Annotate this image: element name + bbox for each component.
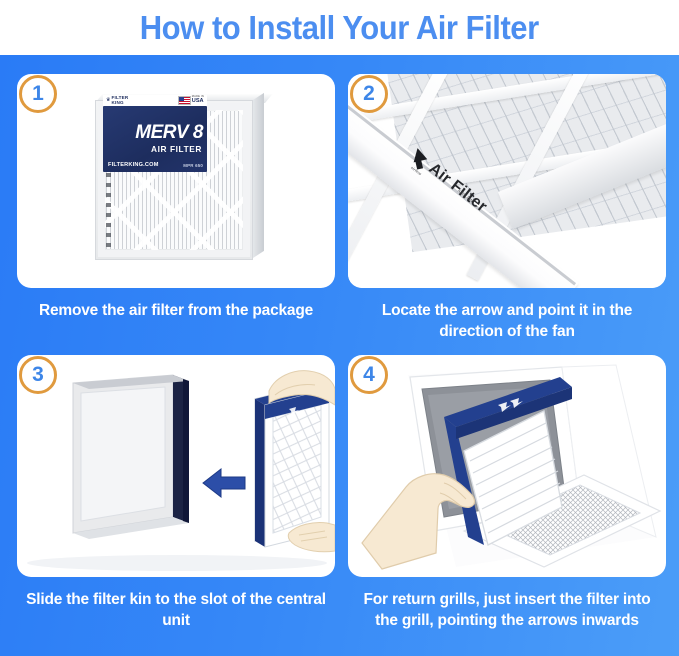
made-in-usa-badge: MADE IN USA xyxy=(178,96,204,105)
country-label: USA xyxy=(192,99,204,105)
step-number-badge-3: 3 xyxy=(19,356,57,394)
brand-line-2: KING xyxy=(111,100,123,105)
made-in-usa-text: MADE IN USA xyxy=(192,96,204,104)
step-2-caption: Locate the arrow and point it in the dir… xyxy=(348,301,666,342)
step-card-4: 4 For return grills, just insert the fil… xyxy=(348,355,666,631)
step-number-badge-4: 4 xyxy=(350,356,388,394)
product-type-label: AIR FILTER xyxy=(103,144,202,154)
mpr-rating-label: MPR 650 xyxy=(183,163,203,168)
step-1-image-card: ♛ FILTER KING MADE IN xyxy=(17,74,335,288)
step-card-3: 3 Slide the filter kin to the slot of th… xyxy=(17,355,335,631)
air-filter-product-photo: ♛ FILTER KING MADE IN xyxy=(89,94,265,266)
step-4-image-card: 4 xyxy=(348,355,666,577)
merv-rating: MERV 8 xyxy=(103,122,203,144)
step-card-1: ♛ FILTER KING MADE IN xyxy=(17,74,335,322)
usa-flag-icon xyxy=(178,96,191,105)
step-2-image-card: airflow Air Filter AIRFLOW 2 xyxy=(348,74,666,288)
step-3-caption: Slide the filter kin to the slot of the … xyxy=(17,590,335,631)
return-grill-insert-illustration xyxy=(348,355,666,577)
air-filter-corner-photo: airflow Air Filter AIRFLOW xyxy=(348,74,666,288)
brand-row: ♛ FILTER KING MADE IN xyxy=(103,95,207,106)
step-4-caption: For return grills, just insert the filte… xyxy=(348,590,666,631)
crown-icon: ♛ xyxy=(106,98,110,103)
title-bar: How to Install Your Air Filter xyxy=(0,0,679,55)
infographic-root: How to Install Your Air Filter xyxy=(0,0,679,656)
website-label: FILTERKING.COM xyxy=(108,162,159,168)
step-card-2: airflow Air Filter AIRFLOW 2 Locate the … xyxy=(348,74,666,342)
steps-grid: ♛ FILTER KING MADE IN xyxy=(0,55,679,656)
label-footer: FILTERKING.COM MPR 650 xyxy=(108,162,203,168)
page-title: How to Install Your Air Filter xyxy=(140,9,539,47)
step-1-caption: Remove the air filter from the package xyxy=(17,301,335,322)
step-3-image-card: 3 xyxy=(17,355,335,577)
steps-background: ♛ FILTER KING MADE IN xyxy=(0,55,679,656)
step-number-badge-1: 1 xyxy=(19,75,57,113)
filter-side-edge xyxy=(253,93,264,258)
slide-direction-arrow-icon xyxy=(203,469,245,497)
brand-name: FILTER KING xyxy=(111,96,128,105)
filter-product-label: ♛ FILTER KING MADE IN xyxy=(103,106,207,172)
slide-into-slot-illustration xyxy=(17,355,335,577)
brand-lockup: ♛ FILTER KING xyxy=(106,96,128,105)
central-unit-slot xyxy=(73,375,189,539)
step-number-badge-2: 2 xyxy=(350,75,388,113)
